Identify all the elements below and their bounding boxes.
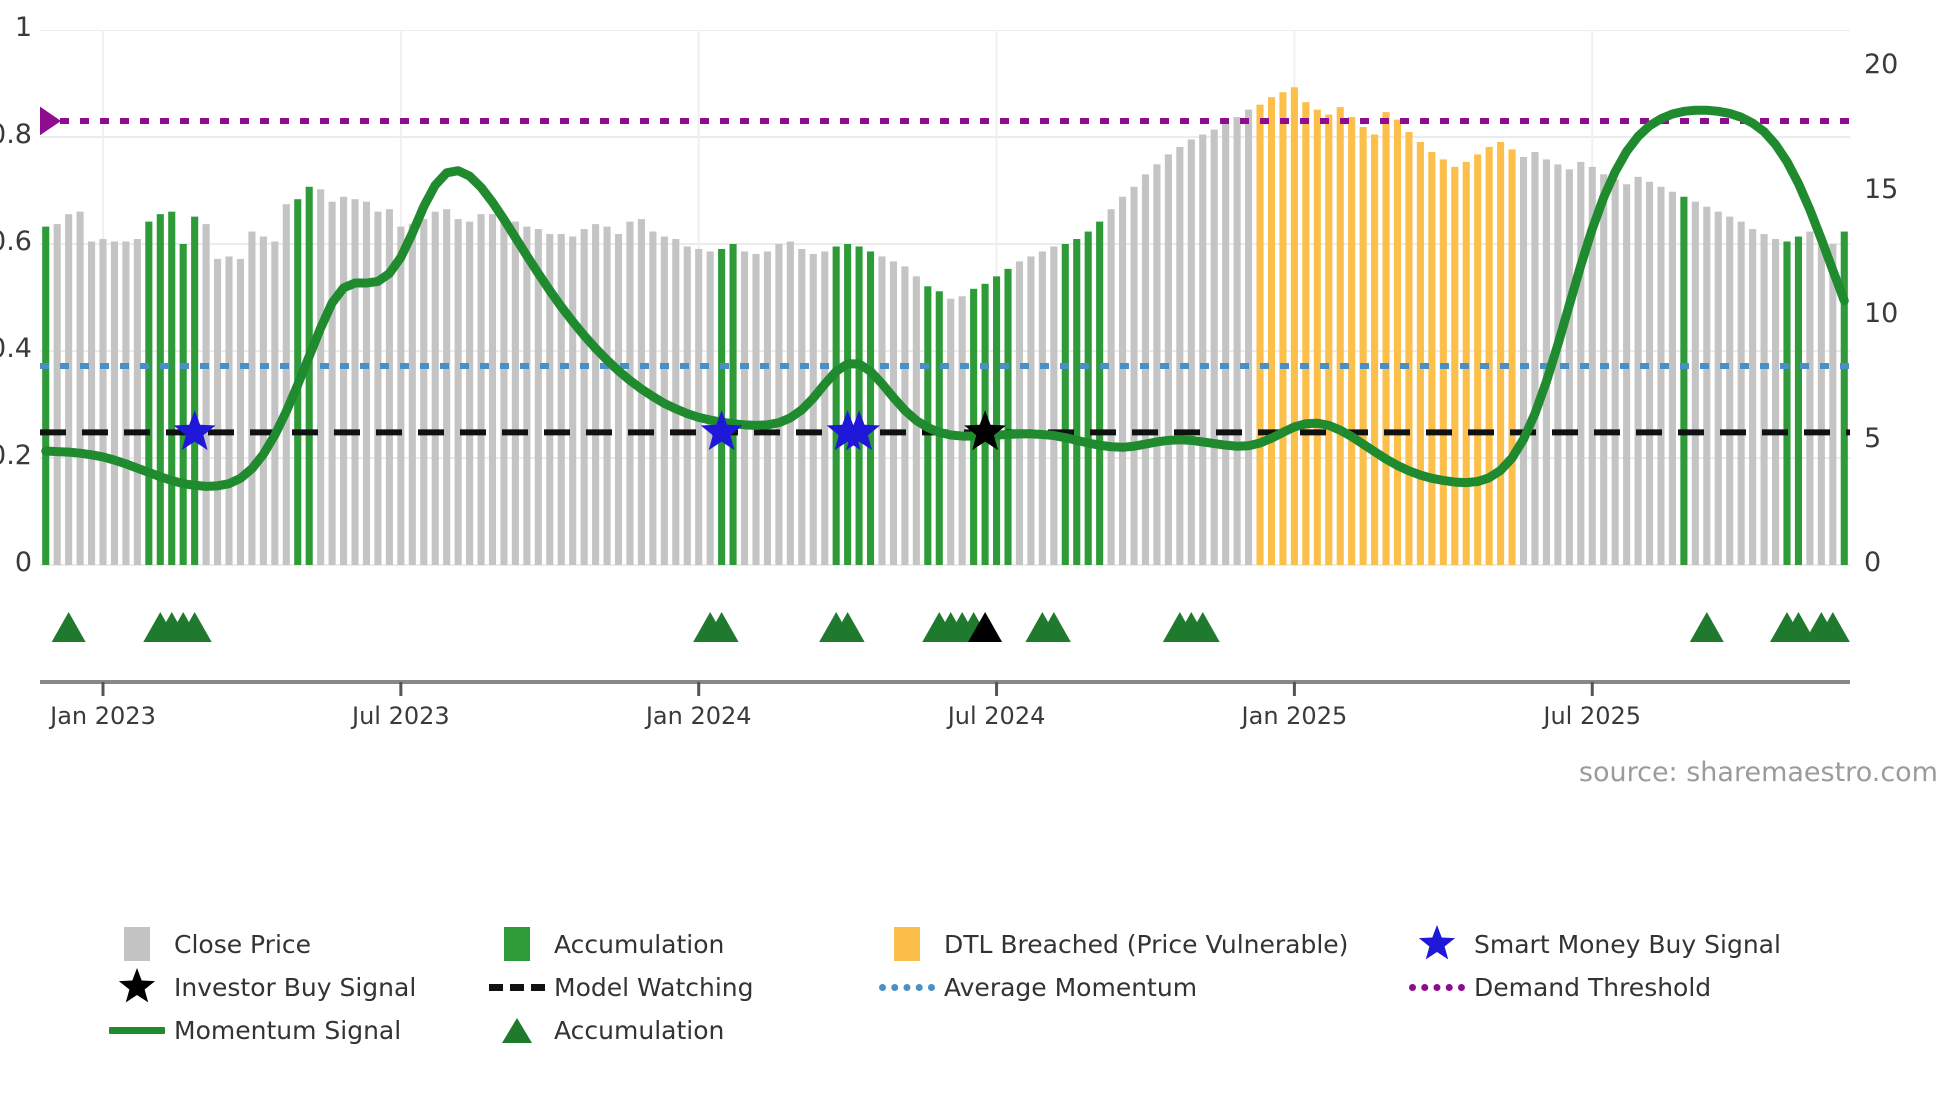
investor-buy-star-icon <box>100 967 174 1007</box>
y-axis-tick-right: 20 <box>1864 49 1944 80</box>
x-axis-tick: Jul 2023 <box>301 702 501 730</box>
x-axis-tick: Jul 2024 <box>897 702 1097 730</box>
chart-plot-area <box>40 30 1850 710</box>
y-axis-tick-right: 15 <box>1864 174 1944 205</box>
momentum-signal-line-icon <box>100 1027 174 1034</box>
demand-threshold-dot-icon <box>1400 984 1474 991</box>
legend-accumulation-bar[interactable]: Accumulation <box>480 927 870 961</box>
smart-money-star-icon <box>1400 924 1474 964</box>
legend-row-2: Investor Buy Signal Model Watching Avera… <box>100 968 1900 1006</box>
chart-canvas <box>40 30 1850 710</box>
legend-close-price[interactable]: Close Price <box>100 927 480 961</box>
x-axis-tick: Jan 2023 <box>3 702 203 730</box>
legend-investor-buy[interactable]: Investor Buy Signal <box>100 967 480 1007</box>
legend-label: Model Watching <box>554 973 754 1002</box>
legend-smart-money[interactable]: Smart Money Buy Signal <box>1400 924 1781 964</box>
close-price-swatch-icon <box>100 927 174 961</box>
legend-row-3: Momentum Signal Accumulation <box>100 1011 1900 1049</box>
legend-label: Close Price <box>174 930 311 959</box>
legend-label: Momentum Signal <box>174 1016 401 1045</box>
y-axis-tick-left: 1 <box>0 12 32 43</box>
legend-label: Accumulation <box>554 1016 724 1045</box>
y-axis-tick-left: 0.8 <box>0 119 32 150</box>
legend-label: Investor Buy Signal <box>174 973 416 1002</box>
legend-label: Average Momentum <box>944 973 1197 1002</box>
legend-row-1: Close Price Accumulation DTL Breached (P… <box>100 925 1900 963</box>
dtl-breached-swatch-icon <box>870 927 944 961</box>
average-momentum-dot-icon <box>870 984 944 991</box>
y-axis-tick-right: 5 <box>1864 423 1944 454</box>
y-axis-tick-left: 0 <box>0 547 32 578</box>
source-attribution: source: sharemaestro.com <box>1579 757 1938 788</box>
legend-dtl-breached[interactable]: DTL Breached (Price Vulnerable) <box>870 927 1400 961</box>
model-watching-dash-icon <box>480 984 554 991</box>
legend-model-watching[interactable]: Model Watching <box>480 973 870 1002</box>
y-axis-tick-left: 0.6 <box>0 226 32 257</box>
legend-demand-threshold[interactable]: Demand Threshold <box>1400 973 1711 1002</box>
legend-label: Smart Money Buy Signal <box>1474 930 1781 959</box>
y-axis-tick-right: 10 <box>1864 298 1944 329</box>
legend-momentum-signal[interactable]: Momentum Signal <box>100 1016 480 1045</box>
chart-legend: Close Price Accumulation DTL Breached (P… <box>100 925 1900 1054</box>
y-axis-tick-right: 0 <box>1864 547 1944 578</box>
legend-label: Accumulation <box>554 930 724 959</box>
legend-accumulation-triangle[interactable]: Accumulation <box>480 1012 870 1048</box>
x-axis-tick: Jan 2024 <box>599 702 799 730</box>
x-axis-tick: Jan 2025 <box>1194 702 1394 730</box>
x-axis-tick: Jul 2025 <box>1492 702 1692 730</box>
accumulation-triangle-icon <box>480 1012 554 1048</box>
legend-label: Demand Threshold <box>1474 973 1711 1002</box>
legend-average-momentum[interactable]: Average Momentum <box>870 973 1400 1002</box>
y-axis-tick-left: 0.2 <box>0 440 32 471</box>
legend-label: DTL Breached (Price Vulnerable) <box>944 930 1348 959</box>
accumulation-swatch-icon <box>480 927 554 961</box>
y-axis-tick-left: 0.4 <box>0 333 32 364</box>
